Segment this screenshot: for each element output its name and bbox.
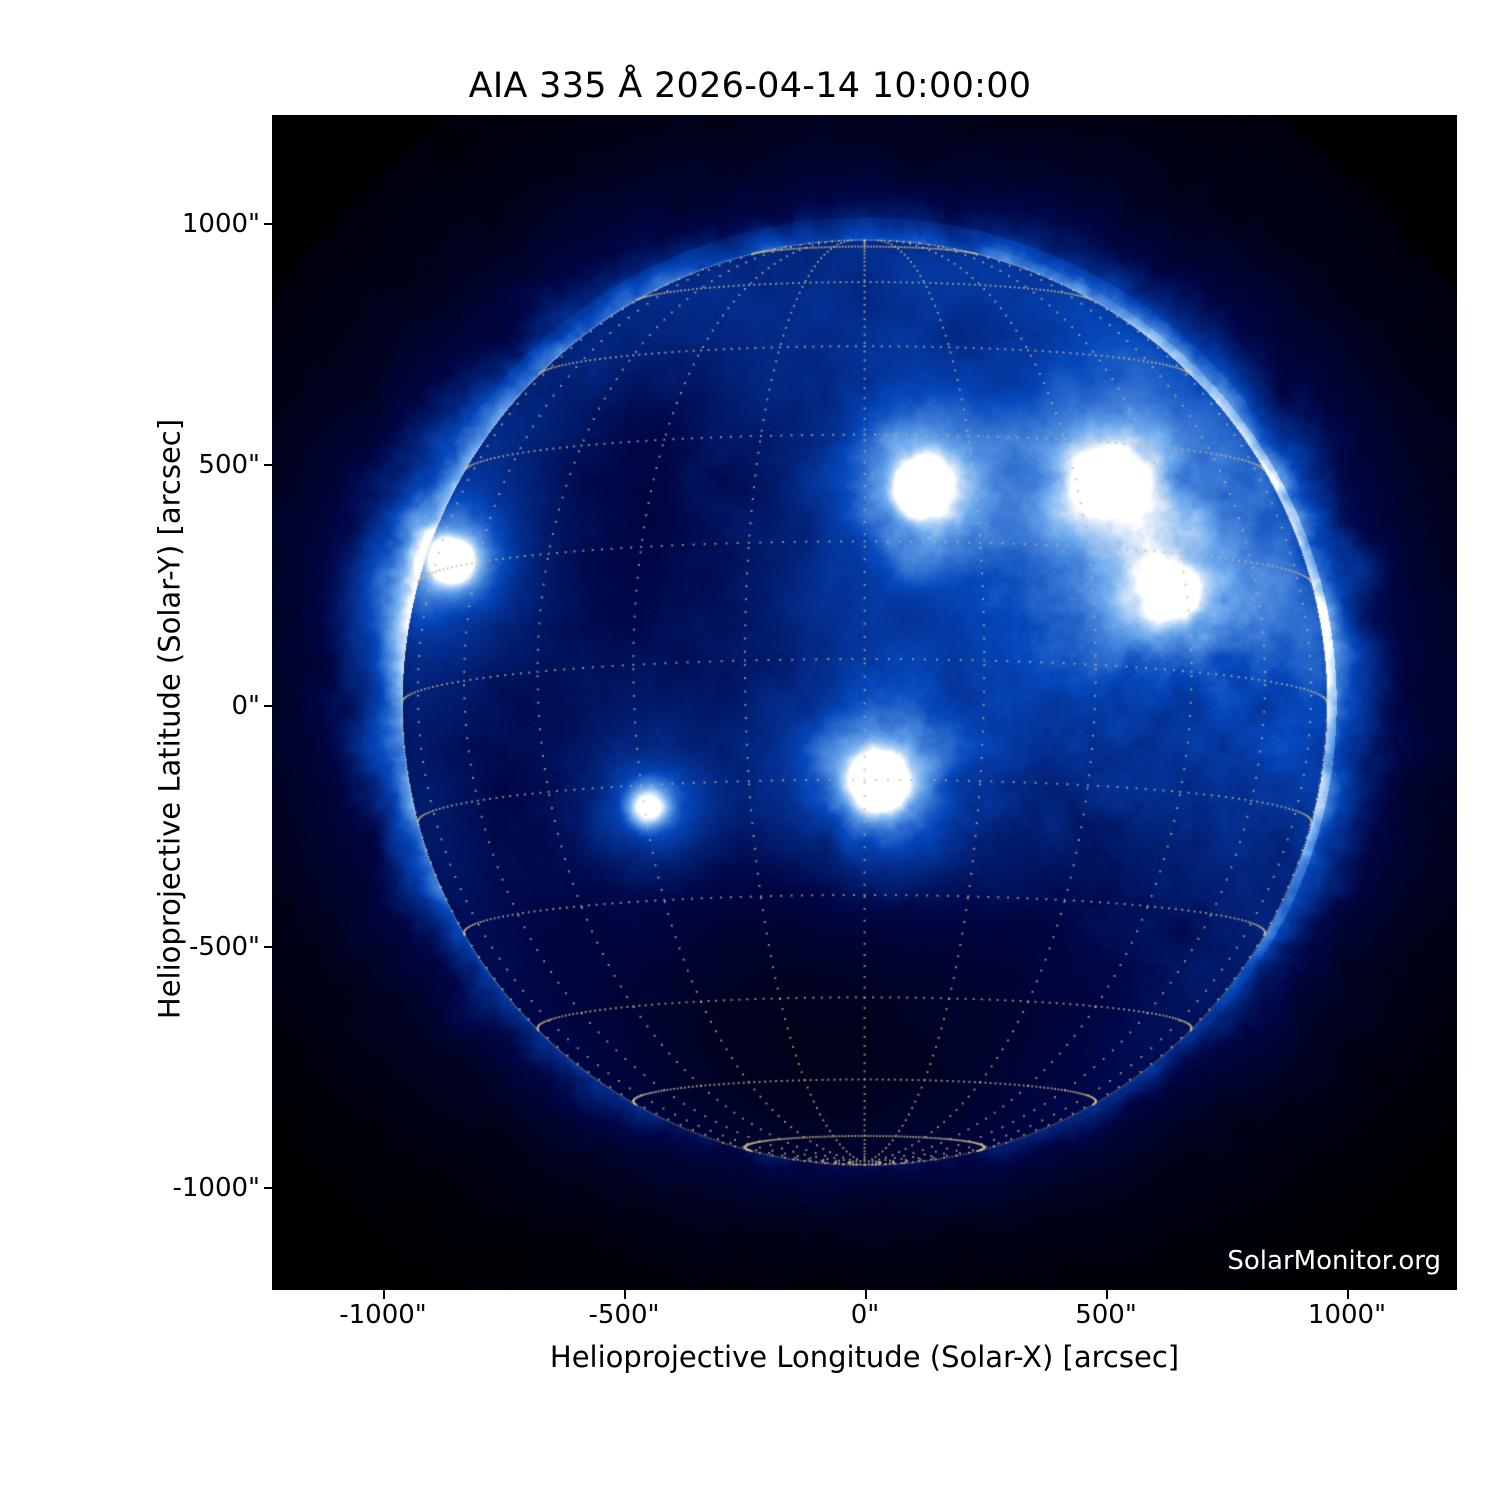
solar-image-plot-area[interactable]: SolarMonitor.org — [272, 115, 1457, 1290]
solar-disk-image — [272, 115, 1457, 1290]
ytick-mark-2 — [264, 705, 273, 707]
xtick-label-1: -500" — [514, 1300, 734, 1330]
xtick-label-3: 500" — [996, 1300, 1216, 1330]
ytick-mark-0 — [264, 223, 273, 225]
xtick-mark-1 — [624, 1290, 626, 1299]
ytick-mark-1 — [264, 464, 273, 466]
xtick-mark-2 — [865, 1290, 867, 1299]
xtick-label-2: 0" — [755, 1300, 975, 1330]
page-title: AIA 335 Å 2026-04-14 10:00:00 — [0, 66, 1500, 106]
watermark-solarmonitor: SolarMonitor.org — [1227, 1246, 1441, 1276]
xtick-label-0: -1000" — [273, 1300, 493, 1330]
x-axis-label: Helioprojective Longitude (Solar-X) [arc… — [272, 1340, 1457, 1374]
solar-image-figure: AIA 335 Å 2026-04-14 10:00:00 SolarMonit… — [0, 0, 1500, 1500]
ytick-mark-3 — [264, 946, 273, 948]
y-axis-label: Helioprojective Latitude (Solar-Y) [arcs… — [153, 132, 187, 1307]
ytick-mark-4 — [264, 1187, 273, 1189]
xtick-label-4: 1000" — [1237, 1300, 1457, 1330]
xtick-mark-3 — [1106, 1290, 1108, 1299]
xtick-mark-0 — [383, 1290, 385, 1299]
xtick-mark-4 — [1347, 1290, 1349, 1299]
